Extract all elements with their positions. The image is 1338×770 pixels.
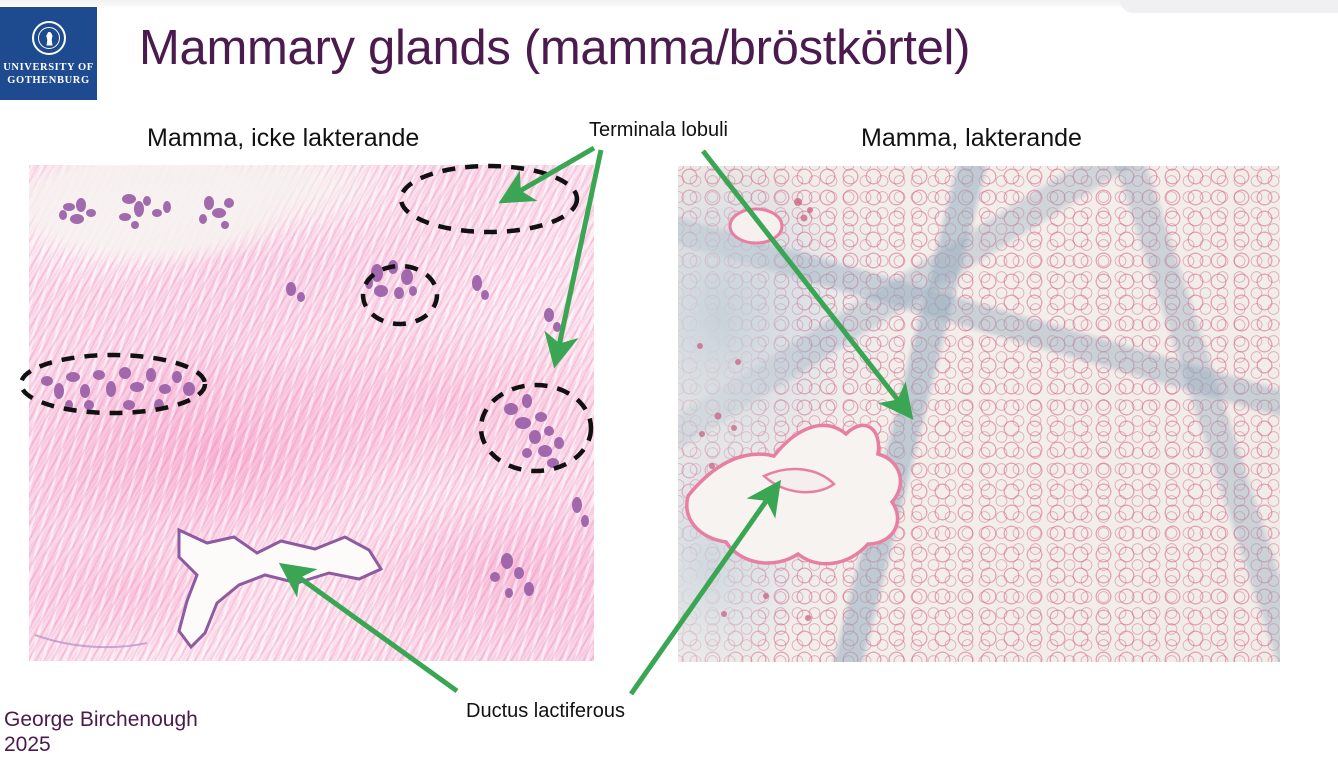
- university-seal-icon: [32, 21, 66, 55]
- logo-line-2: GOTHENBURG: [7, 74, 89, 87]
- author-name: George Birchenough: [4, 707, 198, 732]
- annotation-label-ductus-lactiferous: Ductus lactiferous: [466, 700, 625, 723]
- slide-canvas: UNIVERSITY OF GOTHENBURG Mammary glands …: [0, 0, 1338, 770]
- university-of-gothenburg-logo: UNIVERSITY OF GOTHENBURG: [0, 7, 97, 100]
- page-title: Mammary glands (mamma/bröstkörtel): [139, 20, 970, 76]
- histology-lobules-layer: [29, 165, 594, 661]
- logo-line-1: UNIVERSITY OF: [3, 61, 94, 74]
- annotation-label-terminala-lobuli: Terminala lobuli: [589, 119, 728, 142]
- caption-nonlactating: Mamma, icke lakterande: [147, 124, 419, 153]
- histology-image-lactating: [678, 166, 1280, 662]
- author-year: 2025: [4, 732, 198, 757]
- lactating-duct-layer: [678, 166, 1280, 662]
- footer-author-block: George Birchenough 2025: [4, 707, 198, 757]
- caption-lactating: Mamma, lakterande: [861, 124, 1082, 153]
- histology-image-nonlactating: [29, 165, 594, 661]
- top-decoration-band-right: [1120, 0, 1338, 13]
